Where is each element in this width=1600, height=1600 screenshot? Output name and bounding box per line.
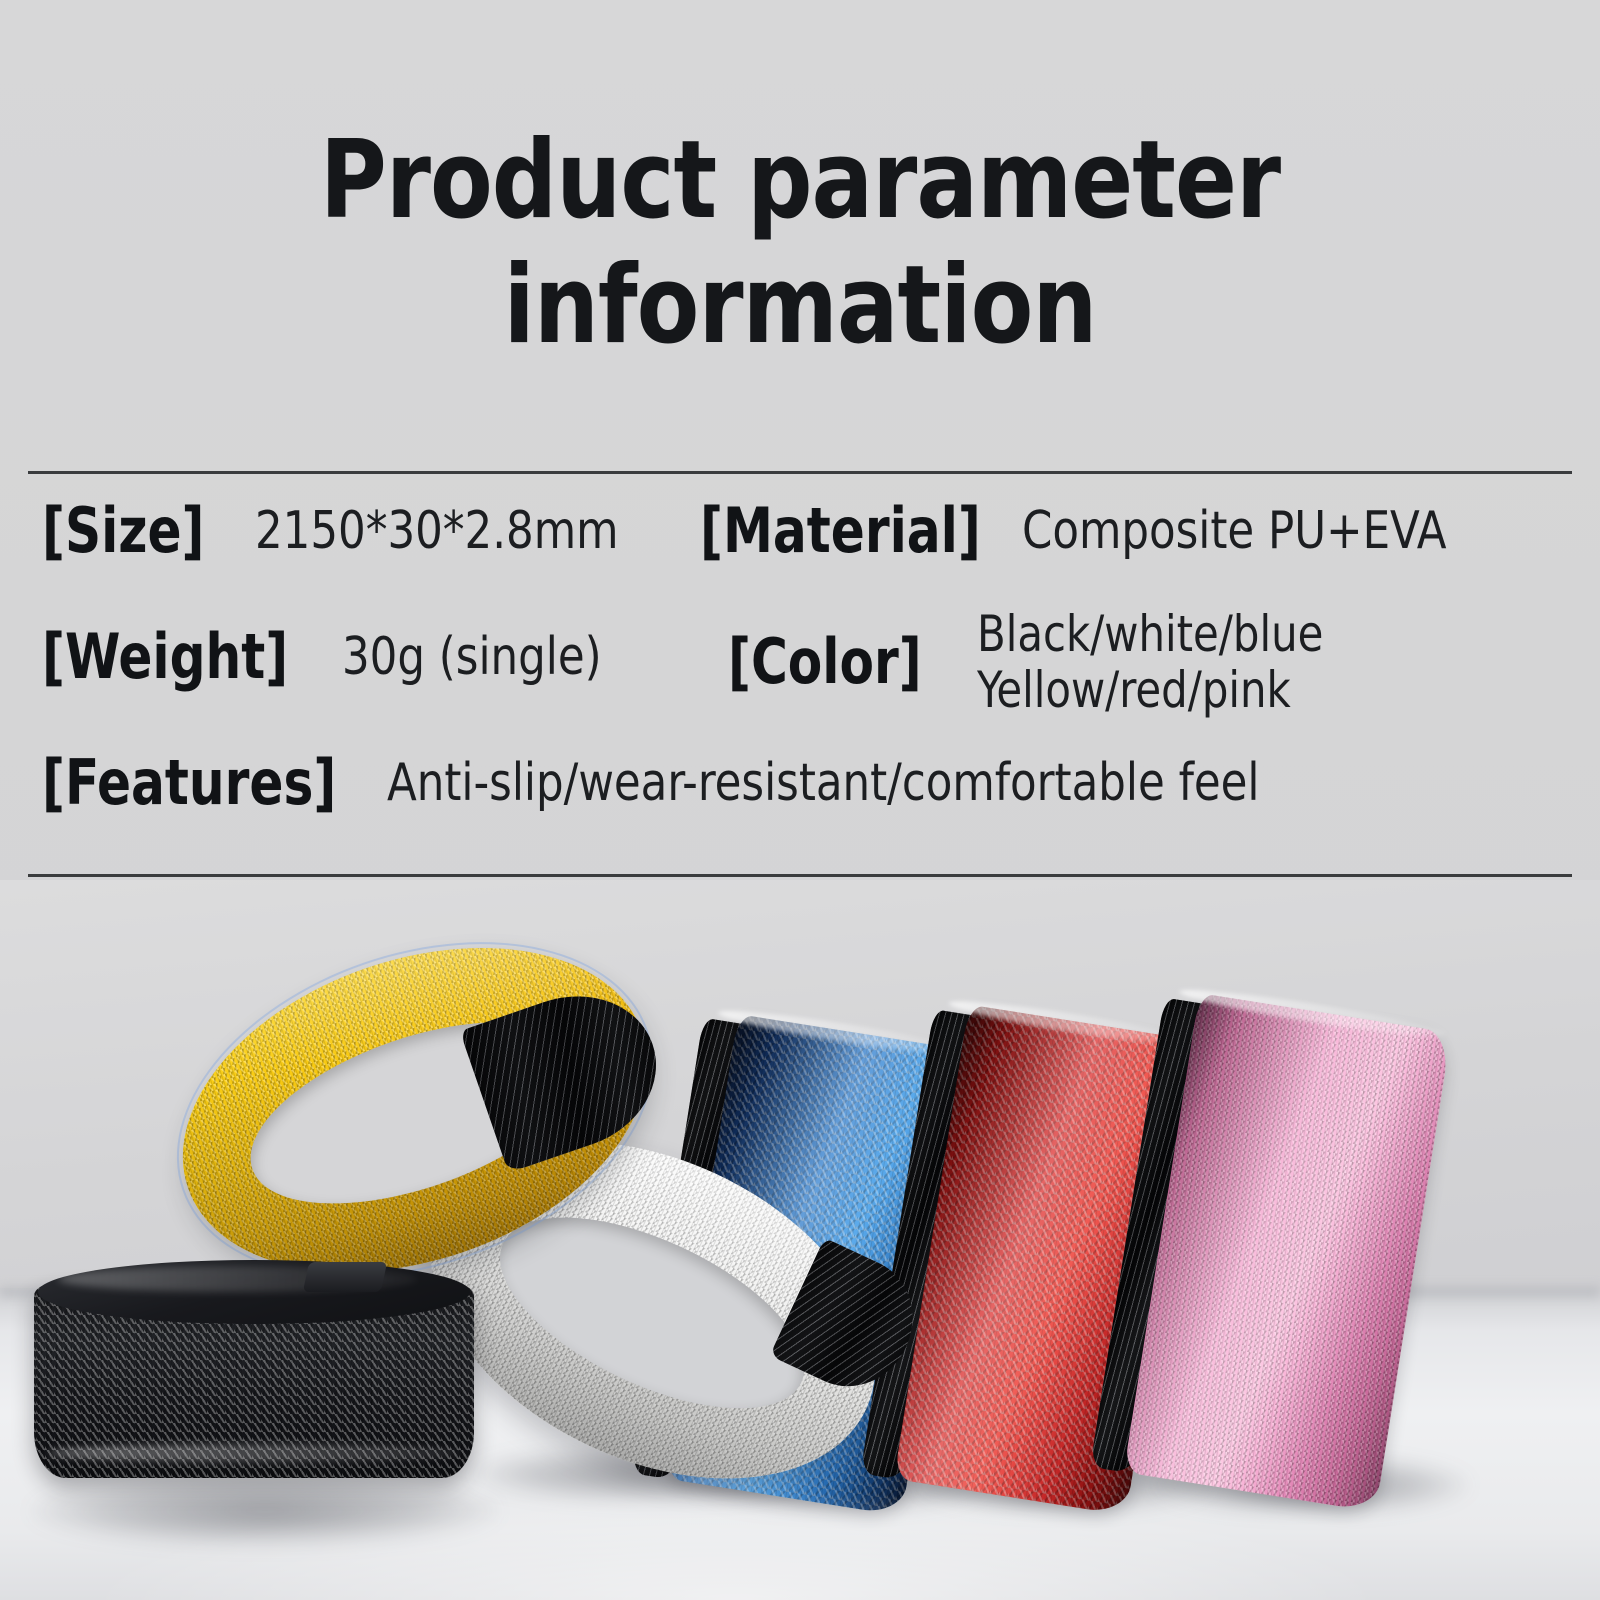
spec-row-features: [Features] Anti-slip/wear-resistant/comf… bbox=[42, 752, 1325, 814]
spec-label-color: [Color] bbox=[728, 631, 922, 693]
divider-top bbox=[28, 471, 1572, 474]
spec-row-material: [Material] Composite PU+EVA bbox=[700, 500, 1478, 562]
spec-value-color: Black/white/blue Yellow/red/pink bbox=[977, 606, 1323, 718]
spec-value-color-line-1: Black/white/blue bbox=[977, 606, 1323, 662]
spec-label-material: [Material] bbox=[700, 500, 981, 562]
spec-row-weight: [Weight] 30g (single) bbox=[42, 626, 621, 688]
photo-floor-sheen bbox=[0, 1410, 1600, 1600]
spec-value-color-line-2: Yellow/red/pink bbox=[977, 662, 1323, 718]
spec-label-features: [Features] bbox=[42, 752, 336, 814]
spec-label-weight: [Weight] bbox=[42, 626, 288, 688]
spec-value-size: 2150*30*2.8mm bbox=[255, 502, 618, 560]
page-title-line-1: Product parameter bbox=[48, 118, 1552, 243]
product-parameter-page: Product parameter information [Size] 215… bbox=[0, 0, 1600, 1600]
spec-row-color: [Color] Black/white/blue Yellow/red/pink bbox=[728, 606, 1350, 718]
spec-row-size: [Size] 2150*30*2.8mm bbox=[42, 500, 645, 562]
divider-bottom bbox=[28, 874, 1572, 877]
tape-roll-black-tail bbox=[303, 1262, 387, 1292]
tape-roll-black-top bbox=[38, 1260, 470, 1324]
spec-label-size: [Size] bbox=[42, 500, 205, 562]
page-title-line-2: information bbox=[48, 243, 1552, 368]
page-title: Product parameter information bbox=[0, 118, 1600, 369]
product-photo bbox=[0, 880, 1600, 1600]
spec-value-material: Composite PU+EVA bbox=[1022, 502, 1446, 560]
spec-value-features: Anti-slip/wear-resistant/comfortable fee… bbox=[387, 754, 1260, 812]
spec-value-weight: 30g (single) bbox=[342, 628, 602, 686]
specification-list: [Size] 2150*30*2.8mm [Material] Composit… bbox=[28, 490, 1576, 862]
